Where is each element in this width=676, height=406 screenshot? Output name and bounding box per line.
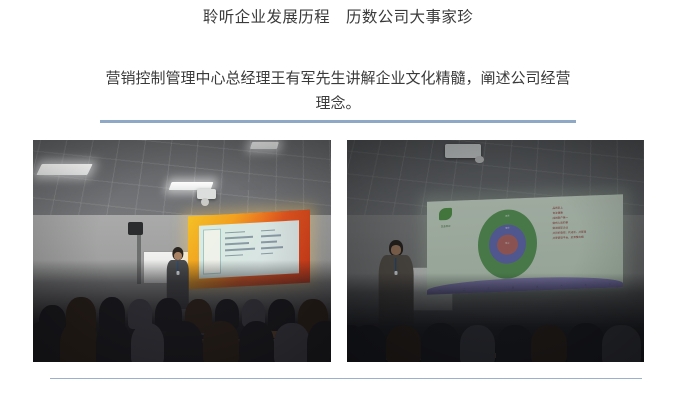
projector-icon (445, 144, 481, 157)
slide-text-line: 做诚信型企业 (553, 225, 618, 230)
slide-text-line: 品质至上 (553, 205, 618, 210)
slide-text-line: 做有人品的事 (553, 220, 618, 225)
photo-content-right: 企业标识 愿景 使命 核心 品质至上 专注健康 (347, 140, 644, 362)
slide-text-line: 共享管理平台、资源整合期 (553, 235, 618, 240)
concentric-ring-outer: 愿景 使命 核心 (478, 208, 537, 279)
presenter-culture-slide-photo: 企业标识 愿景 使命 核心 品质至上 专注健康 (347, 140, 644, 362)
slide-text-column: 品质至上 专注健康 成就客户第一 做有人品的事 做诚信型企业 共同价值观：共成长… (553, 205, 618, 275)
wall-speaker-icon (128, 222, 143, 235)
photo-content-left (33, 140, 331, 362)
ceiling-light-icon (250, 142, 279, 149)
ring-label-inner: 核心 (497, 242, 517, 245)
slide-text-line: 成就客户第一 (553, 215, 618, 220)
projector-lens-icon (475, 156, 484, 164)
ring-label-outer: 愿景 (478, 214, 537, 218)
article-paragraph: 营销控制管理中心总经理王有军先生讲解企业文化精髓，阐述公司经营理念。 (100, 66, 576, 116)
ring-label-middle: 使命 (489, 227, 525, 230)
audience-seating (33, 260, 331, 362)
page-title: 聆听企业发展历程 历数公司大事家珍 (0, 7, 676, 29)
photo-row: 企业标识 愿景 使命 核心 品质至上 专注健康 (33, 140, 644, 362)
training-room-audience-photo (33, 140, 331, 362)
audience-seating (347, 273, 644, 362)
concentric-ring-middle: 使命 核心 (489, 224, 525, 264)
slide-text-line: 专注健康 (553, 210, 618, 215)
concentric-ring-inner: 核心 (497, 234, 517, 255)
company-logo-icon: 企业标识 (435, 207, 457, 228)
bottom-divider (50, 378, 642, 379)
ceiling-light-icon (36, 164, 92, 175)
slide-text-line: 共同价值观：共成长、共管理 (553, 230, 618, 235)
article-page: 聆听企业发展历程 历数公司大事家珍 营销控制管理中心总经理王有军先生讲解企业文化… (0, 0, 676, 406)
projector-lens-icon (201, 198, 209, 206)
ceiling-vent-icon (239, 182, 263, 190)
top-divider (100, 120, 576, 123)
